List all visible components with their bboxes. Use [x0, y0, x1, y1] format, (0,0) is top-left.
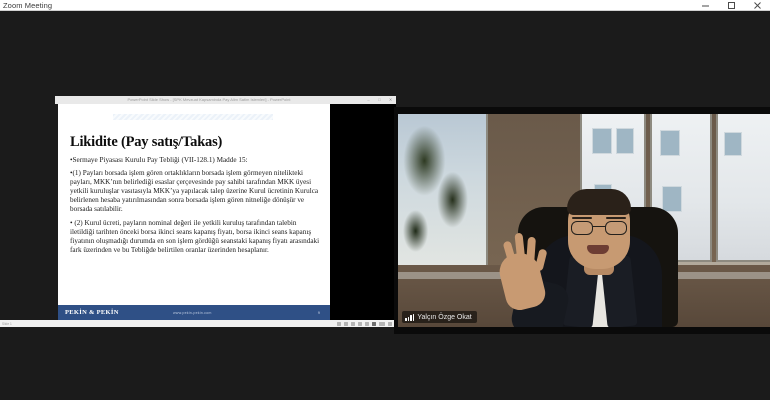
- building-window: [662, 186, 682, 212]
- window-controls: [692, 0, 770, 11]
- powerpoint-close-button[interactable]: ✕: [385, 96, 396, 104]
- normal-view-icon[interactable]: [351, 322, 355, 326]
- slide-decoration: [113, 114, 273, 120]
- window-titlebar: Zoom Meeting: [0, 0, 770, 11]
- presentation-slide[interactable]: Likidite (Pay satış/Takas) •Sermaye Piya…: [58, 104, 330, 320]
- person-eyebrow-right: [606, 217, 626, 220]
- powerpoint-titlebar: PowerPoint Slide Show - [SPK Mevzuat Kap…: [55, 96, 396, 104]
- window-glass-trees: [398, 114, 486, 270]
- notes-icon[interactable]: [337, 322, 341, 326]
- window-glass-building: [718, 114, 770, 260]
- powerpoint-restore-glyph: □: [378, 98, 380, 102]
- maximize-button[interactable]: [718, 0, 744, 11]
- participant-name: Yalçın Özge Okat: [417, 314, 471, 321]
- slide-footer-brand: PEKİN & PEKİN: [65, 309, 119, 316]
- glasses-lens-left: [571, 221, 593, 235]
- powerpoint-minimize-button[interactable]: –: [363, 96, 374, 104]
- person-mouth: [587, 245, 609, 254]
- participant-video-tile[interactable]: Yalçın Özge Okat: [394, 107, 770, 334]
- person-glasses: [571, 221, 627, 235]
- video-feed: Yalçın Özge Okat: [398, 114, 770, 327]
- person-eyebrow-left: [572, 217, 592, 220]
- powerpoint-close-glyph: ✕: [389, 98, 392, 102]
- building-window: [660, 130, 680, 156]
- glasses-bridge: [593, 226, 605, 227]
- powerpoint-status-note: Slide 1: [2, 322, 12, 326]
- zoom-meeting-window: Zoom Meeting PowerPoint Slide Show - [SP…: [0, 0, 770, 400]
- signal-strength-icon: [405, 314, 414, 321]
- person-hair: [567, 189, 631, 215]
- powerpoint-title: PowerPoint Slide Show - [SPK Mevzuat Kap…: [55, 96, 363, 104]
- slide-body: •Sermaye Piyasası Kurulu Pay Tebliği (VI…: [70, 156, 320, 259]
- window-pane-left: [398, 114, 488, 272]
- slide-footer: PEKİN & PEKİN www.pekin-pekin.com 9: [58, 305, 330, 320]
- slide-paragraph: •(1) Payları borsada işlem gören ortaklı…: [70, 169, 320, 214]
- slide-paragraph: •Sermaye Piyasası Kurulu Pay Tebliği (VI…: [70, 156, 320, 165]
- slide-title: Likidite (Pay satış/Takas): [70, 134, 320, 151]
- comments-icon[interactable]: [344, 322, 348, 326]
- glasses-lens-right: [605, 221, 627, 235]
- building-window: [592, 128, 612, 154]
- building-window: [616, 128, 634, 154]
- sorter-view-icon[interactable]: [358, 322, 362, 326]
- minimize-button[interactable]: [692, 0, 718, 11]
- participant-name-label: Yalçın Özge Okat: [402, 311, 477, 323]
- slide-paragraph: • (2) Kurul ücreti, payların nominal değ…: [70, 219, 320, 255]
- building-window: [724, 132, 742, 156]
- zoom-slider[interactable]: [379, 322, 385, 326]
- shared-screen-region[interactable]: PowerPoint Slide Show - [SPK Mevzuat Kap…: [0, 96, 396, 328]
- reading-view-icon[interactable]: [365, 322, 369, 326]
- powerpoint-statusbar-icons: [337, 322, 392, 326]
- slide-page-number: 9: [318, 310, 320, 315]
- window-pane-right: [716, 114, 770, 262]
- slide-footer-url: www.pekin-pekin.com: [173, 311, 212, 315]
- powerpoint-minimize-glyph: –: [367, 98, 369, 102]
- fit-slide-icon[interactable]: [388, 322, 392, 326]
- powerpoint-restore-button[interactable]: □: [374, 96, 385, 104]
- meeting-stage: PowerPoint Slide Show - [SPK Mevzuat Kap…: [0, 11, 770, 400]
- slideshow-view-icon[interactable]: [372, 322, 376, 326]
- powerpoint-statusbar: Slide 1: [0, 320, 396, 327]
- slide-letterbox: [330, 104, 396, 320]
- window-title: Zoom Meeting: [3, 0, 52, 11]
- close-button[interactable]: [744, 0, 770, 11]
